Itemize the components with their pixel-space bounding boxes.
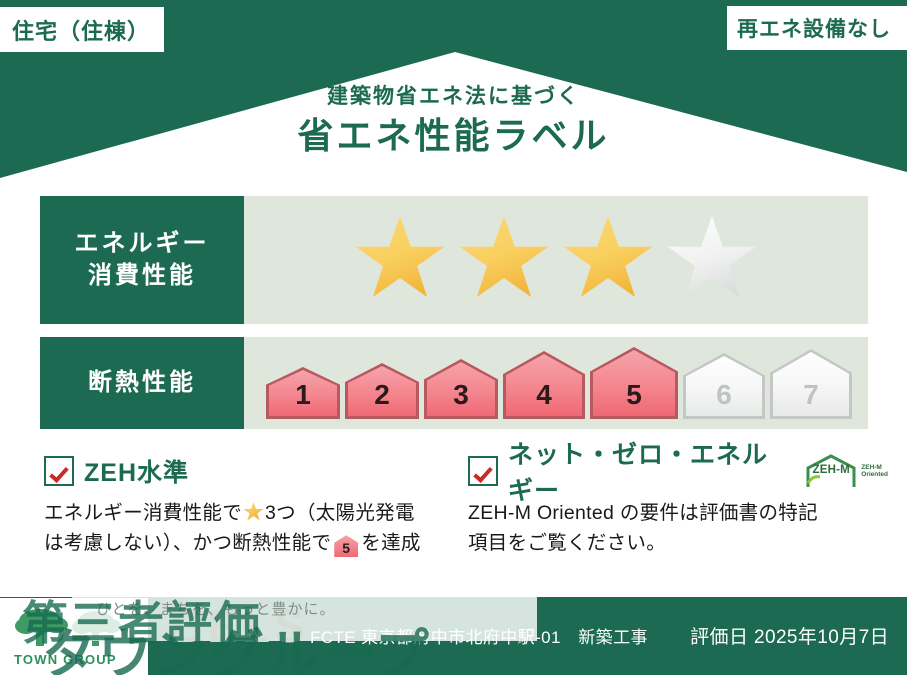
criterion-zeh-body-part3: は考慮しない）、かつ断熱性能で [44, 532, 331, 554]
star-rating [244, 216, 758, 304]
house-level-label: 7 [803, 379, 819, 419]
criterion-zeh-title: ZEH水準 [84, 453, 189, 489]
row-insulation-label-text: 断熱性能 [88, 367, 196, 399]
row-energy-performance: エネルギー 消費性能 [40, 196, 868, 324]
footer-evaluation-date: 評価日 2025年10月7日 [690, 622, 889, 649]
footer-bar: FCTE 東京都府中市北府中駅-01 新築工事 評価日 2025年10月7日 T… [0, 597, 907, 675]
house-icon-level-4: 4 [503, 351, 585, 419]
criterion-zeh-body: エネルギー消費性能で3つ（太陽光発電 は考慮しない）、かつ断熱性能で5を達成 [44, 498, 444, 558]
town-group-logo-name: TOWN GROUP [14, 652, 117, 667]
town-group-logo: TOWN GROUP [0, 598, 148, 675]
tree-emblem-icon [14, 604, 132, 648]
criterion-nze-body-line1: ZEH-M Oriented の要件は評価書の特記 [468, 498, 888, 528]
criterion-nze-body: ZEH-M Oriented の要件は評価書の特記 項目をご覧ください。 [468, 498, 888, 558]
row-energy-label-line1: エネルギー [75, 228, 210, 260]
badge-dwelling-type: 住宅（住棟） [0, 7, 164, 52]
star-icon-2-filled [458, 216, 550, 304]
row-insulation-value: 1 2 3 4 5 [244, 337, 868, 429]
house-level-label: 6 [716, 379, 732, 419]
zeh-m-logo-sublabel: ZEH-M Oriented [861, 464, 888, 479]
row-energy-label: エネルギー 消費性能 [40, 196, 244, 324]
zeh-m-sub-line2: Oriented [861, 471, 888, 478]
house-level-label: 2 [374, 379, 390, 419]
house-icon-inline-value: 5 [334, 535, 358, 562]
page-title: 建築物省エネ法に基づく 省エネ性能ラベル [0, 84, 907, 158]
badge-dwelling-label: 住宅（住棟） [12, 14, 150, 46]
star-icon-1-filled [354, 216, 446, 304]
star-icon-3-filled [562, 216, 654, 304]
criterion-nze-header: ネット・ゼロ・エネルギー ZEH-M ZEH-M Oriented [468, 452, 888, 490]
star-icon-4-empty [666, 216, 758, 304]
criterion-zeh-body-part1: エネルギー消費性能で [44, 502, 242, 524]
house-level-label: 5 [626, 379, 642, 419]
house-level-label: 1 [295, 379, 311, 419]
criterion-zeh-body-part2: 3つ（太陽光発電 [265, 502, 415, 524]
house-icon-level-1: 1 [266, 367, 340, 419]
house-icon-inline: 5 [334, 535, 358, 557]
zeh-m-house-icon: ZEH-M [804, 453, 858, 489]
house-icon-level-5: 5 [590, 347, 678, 419]
footer-project-name: FCTE 東京都府中市北府中駅-01 新築工事 [310, 623, 648, 648]
zeh-m-logo-text: ZEH-M [804, 464, 858, 476]
check-icon-nze [468, 456, 498, 486]
criterion-net-zero-energy: ネット・ゼロ・エネルギー ZEH-M ZEH-M Oriented [468, 452, 888, 558]
energy-performance-label: 住宅（住棟） 再エネ設備なし 建築物省エネ法に基づく 省エネ性能ラベル エネルギ… [0, 0, 907, 675]
house-icon-level-6: 6 [683, 353, 765, 419]
house-icon-level-7: 7 [770, 349, 852, 419]
row-insulation-label: 断熱性能 [40, 337, 244, 429]
insulation-scale: 1 2 3 4 5 [244, 347, 852, 419]
house-icon-level-2: 2 [345, 363, 419, 419]
watermark-bels: BELS [170, 599, 309, 653]
criterion-nze-body-line2: 項目をご覧ください。 [468, 528, 888, 558]
title-subtitle: 建築物省エネ法に基づく [0, 84, 907, 109]
row-insulation-performance: 断熱性能 1 2 3 4 [40, 337, 868, 429]
title-main: 省エネ性能ラベル [0, 113, 907, 158]
criterion-nze-title: ネット・ゼロ・エネルギー [508, 435, 788, 507]
row-energy-value [244, 196, 868, 324]
house-level-label: 3 [453, 379, 469, 419]
criterion-zeh-header: ZEH水準 [44, 452, 444, 490]
criteria-section: ZEH水準 エネルギー消費性能で3つ（太陽光発電 は考慮しない）、かつ断熱性能で… [0, 452, 907, 597]
house-icon-level-3: 3 [424, 359, 498, 419]
check-icon-zeh [44, 456, 74, 486]
badge-renewable-label: 再エネ設備なし [737, 13, 891, 43]
zeh-m-logo: ZEH-M ZEH-M Oriented [804, 453, 888, 489]
row-energy-label-line2: 消費性能 [88, 260, 196, 292]
criterion-zeh-body-part4: を達成 [361, 532, 420, 554]
badge-renewable-status: 再エネ設備なし [727, 6, 907, 50]
house-level-label: 4 [536, 379, 552, 419]
criterion-zeh-standard: ZEH水準 エネルギー消費性能で3つ（太陽光発電 は考慮しない）、かつ断熱性能で… [44, 452, 444, 558]
zeh-m-sub-line1: ZEH-M [861, 464, 888, 471]
star-icon-inline [243, 502, 264, 522]
